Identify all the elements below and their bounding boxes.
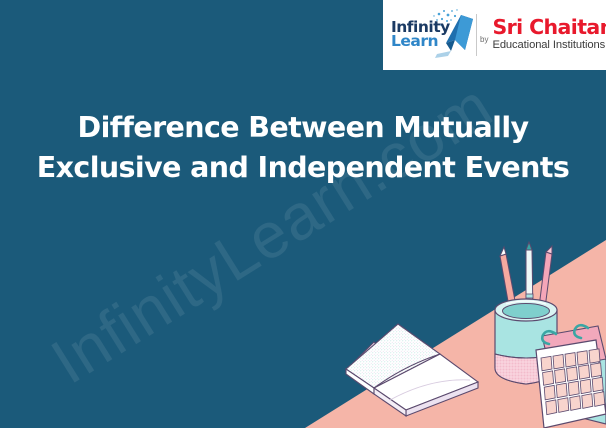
- desk-scene-illustration: [330, 238, 606, 428]
- sri-chaitanya-name: Sri Chaitanya: [492, 17, 600, 38]
- open-book-graphic: [346, 324, 478, 416]
- brand-logo-card[interactable]: Infinity Learn by Sri Chaitanya Educatio…: [383, 0, 606, 70]
- sri-chaitanya-subtitle: Educational Institutions: [492, 39, 600, 52]
- logo-text-learn: Learn: [391, 34, 450, 48]
- title-line-2: Exclusive and Independent Events: [18, 148, 588, 188]
- desk-calendar-graphic: [536, 325, 606, 428]
- infinity-learn-logo: Infinity Learn: [391, 7, 475, 63]
- banner: InfinityLearn.com: [0, 0, 606, 428]
- infinity-learn-wordmark: Infinity Learn: [391, 20, 450, 49]
- title-line-1: Difference Between Mutually: [18, 108, 588, 148]
- page-title: Difference Between Mutually Exclusive an…: [0, 108, 606, 189]
- logo-connector-by: by: [480, 35, 488, 44]
- sri-chaitanya-logo: Sri Chaitanya Educational Institutions: [492, 17, 600, 52]
